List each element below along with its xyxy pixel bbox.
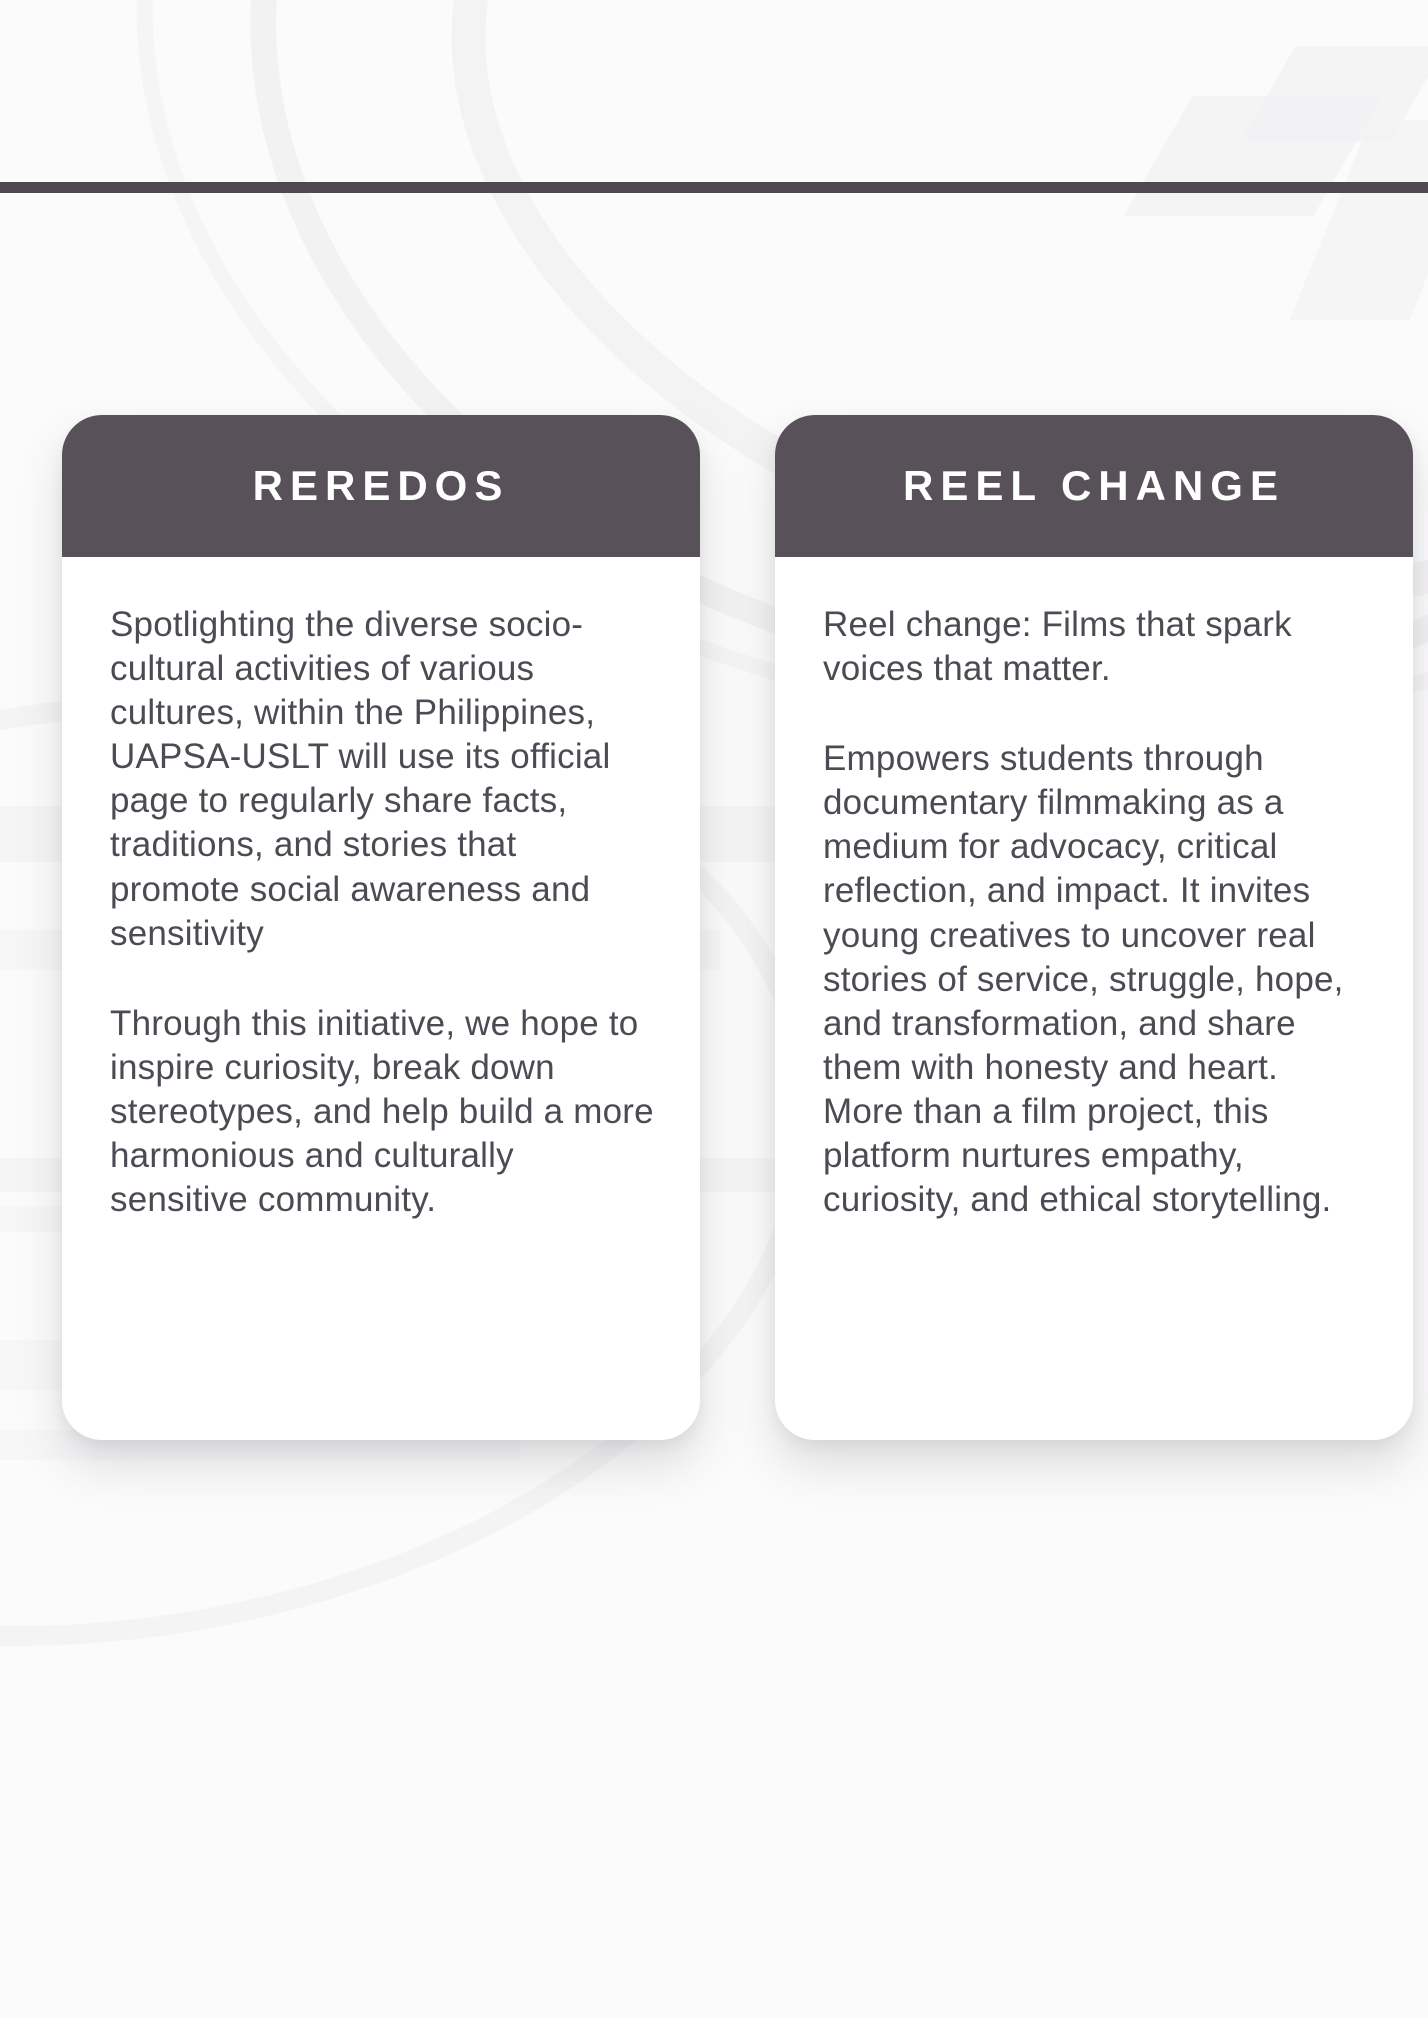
card-paragraph: Empowers students through documentary fi…	[823, 737, 1367, 1222]
card-paragraph: Reel change: Films that spark voices tha…	[823, 603, 1367, 691]
initiative-card-reredos[interactable]: REREDOS Spotlighting the diverse socio-c…	[62, 415, 700, 1440]
card-body: Reel change: Films that spark voices tha…	[775, 557, 1413, 1262]
card-header: REEL CHANGE	[775, 415, 1413, 557]
card-body: Spotlighting the diverse socio-cultural …	[62, 557, 700, 1262]
card-title: REEL CHANGE	[903, 465, 1285, 507]
card-header: REREDOS	[62, 415, 700, 557]
card-paragraph: Spotlighting the diverse socio-cultural …	[110, 603, 654, 956]
card-deck: REREDOS Spotlighting the diverse socio-c…	[0, 0, 1428, 2018]
card-title: REREDOS	[253, 465, 510, 507]
initiative-card-reel-change[interactable]: REEL CHANGE Reel change: Films that spar…	[775, 415, 1413, 1440]
card-paragraph: Through this initiative, we hope to insp…	[110, 1002, 654, 1222]
